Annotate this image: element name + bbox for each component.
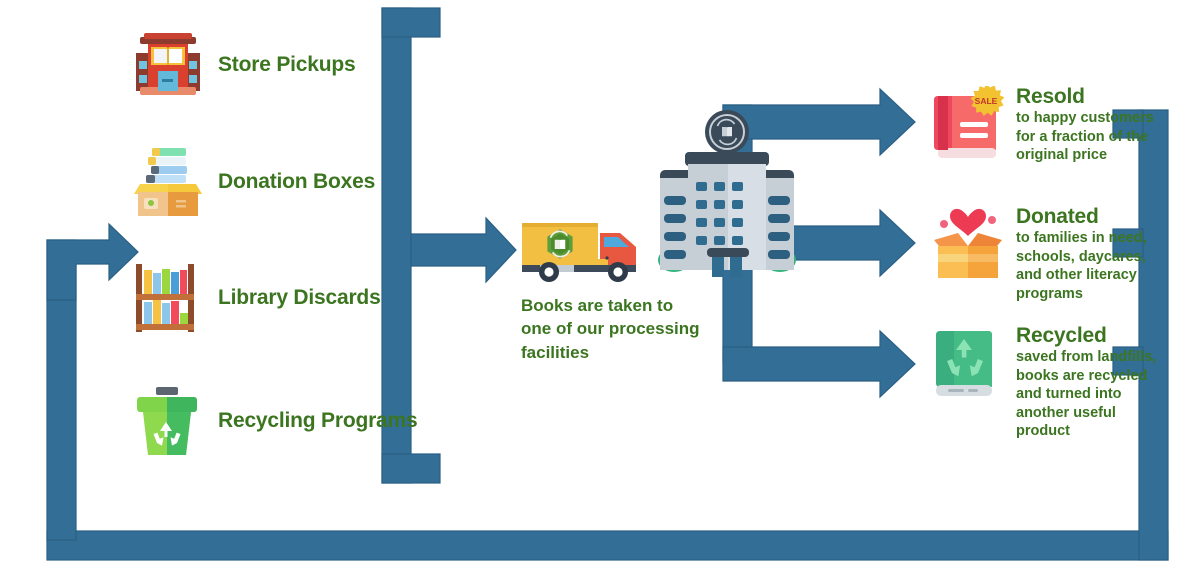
outcome-description-resold: to happy customers for a fraction of the… (1016, 109, 1154, 165)
source-label-store-pickups: Store Pickups (218, 54, 355, 76)
outcome-resold-line-3: original price (1016, 146, 1154, 165)
outcome-recycled-line-2: books are recycled (1016, 367, 1156, 386)
transport-caption: Books are taken to one of our processing… (521, 294, 721, 364)
outcome-recycled-line-3: and turned into (1016, 385, 1156, 404)
infographic-canvas: Store Pickups (0, 0, 1200, 583)
arrow-to-transport (411, 218, 516, 282)
svg-text:SALE: SALE (975, 96, 998, 106)
company-emblem-icon (705, 110, 749, 154)
storefront-book-icon (128, 25, 208, 105)
outcome-resold-line-2: for a fraction of the (1016, 128, 1154, 147)
facility-node[interactable] (652, 108, 802, 290)
outcome-resold-line-1: to happy customers (1016, 109, 1154, 128)
delivery-truck-icon (518, 215, 648, 285)
loop-bottom-bar (47, 531, 1168, 560)
source-node-store-pickups[interactable]: Store Pickups (128, 25, 355, 105)
donation-box-books-icon (128, 142, 208, 222)
recycled-book-icon (930, 325, 1008, 407)
source-node-donation-boxes[interactable]: Donation Boxes (128, 142, 375, 222)
transport-caption-line-2: one of our processing (521, 317, 721, 340)
bookshelf-icon (128, 258, 208, 338)
outcome-description-donated: to families in need, schools, daycares, … (1016, 229, 1147, 303)
outcome-node-recycled[interactable]: Recycled saved from landfills, books are… (930, 325, 1156, 441)
book-sale-tag-icon: SALE (930, 86, 1008, 168)
outcome-label-recycled: Recycled (1016, 325, 1156, 347)
outcome-recycled-line-5: product (1016, 422, 1156, 441)
transport-caption-line-3: facilities (521, 341, 721, 364)
outcome-recycled-line-1: saved from landfills, (1016, 348, 1156, 367)
source-node-recycling-programs[interactable]: Recycling Programs (128, 381, 417, 461)
sources-collector-top-stub (382, 8, 440, 37)
source-label-donation-boxes: Donation Boxes (218, 171, 375, 193)
transport-node[interactable] (518, 215, 648, 285)
sources-entry-arrow (47, 224, 138, 300)
outcome-label-donated: Donated (1016, 206, 1147, 228)
outcome-donated-line-2: schools, daycares, (1016, 248, 1147, 267)
outcome-node-resold[interactable]: SALE Resold to happy customers for a fra… (930, 86, 1154, 168)
outcome-donated-line-4: programs (1016, 285, 1147, 304)
recycle-bin-icon (128, 381, 208, 461)
processing-facility-building-icon (652, 108, 802, 290)
source-node-library-discards[interactable]: Library Discards (128, 258, 381, 338)
source-label-library-discards: Library Discards (218, 287, 381, 309)
source-label-recycling-programs: Recycling Programs (218, 410, 417, 432)
outcome-recycled-line-4: another useful (1016, 404, 1156, 423)
heart-donation-box-icon (930, 206, 1008, 288)
outcome-label-resold: Resold (1016, 86, 1154, 108)
outcome-description-recycled: saved from landfills, books are recycled… (1016, 348, 1156, 441)
outcome-donated-line-1: to families in need, (1016, 229, 1147, 248)
transport-caption-line-1: Books are taken to (521, 294, 721, 317)
outcome-node-donated[interactable]: Donated to families in need, schools, da… (930, 206, 1147, 303)
outcome-donated-line-3: and other literacy (1016, 266, 1147, 285)
